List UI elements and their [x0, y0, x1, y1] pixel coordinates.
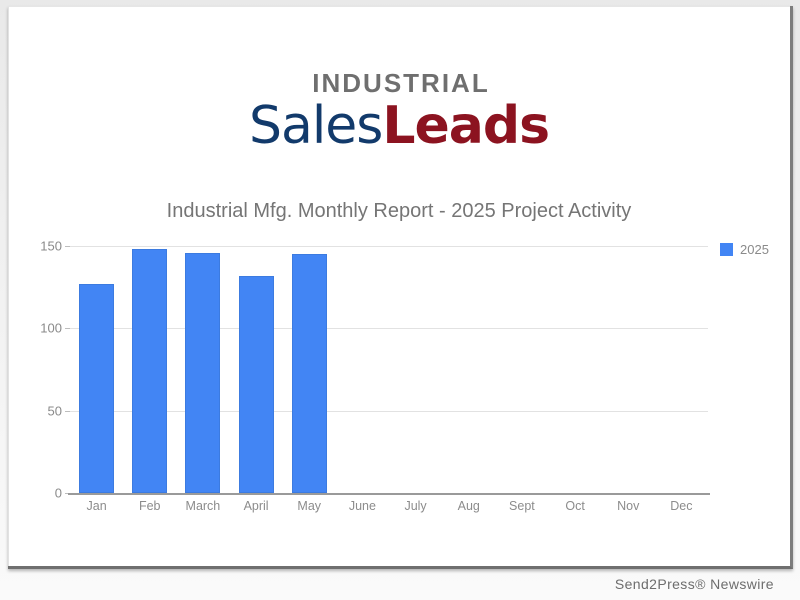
slide-card: INDUSTRIAL SalesLeads Industrial Mfg. Mo…	[8, 6, 793, 569]
x-axis-tick-label: Dec	[655, 499, 708, 513]
y-axis-tick-label: 100	[16, 321, 62, 336]
x-axis-tick-label: June	[336, 499, 389, 513]
axis-baseline	[68, 493, 710, 495]
bar-slot	[655, 246, 708, 493]
x-axis-tick-label: March	[176, 499, 229, 513]
x-axis-tick-label: Aug	[442, 499, 495, 513]
brand-logo-wordmark: SalesLeads	[8, 100, 790, 152]
bar-slot	[549, 246, 602, 493]
bar-jan[interactable]	[79, 284, 114, 493]
bar-slot	[123, 246, 176, 493]
bar-slot	[176, 246, 229, 493]
brand-logo: INDUSTRIAL SalesLeads	[8, 70, 790, 152]
bar-slot	[230, 246, 283, 493]
chart-title: Industrial Mfg. Monthly Report - 2025 Pr…	[8, 200, 790, 223]
y-axis-tick-label: 0	[16, 486, 62, 501]
bar-slot	[602, 246, 655, 493]
bar-may[interactable]	[292, 254, 327, 493]
brand-logo-leads-text: Leads	[382, 96, 549, 156]
bar-feb[interactable]	[132, 249, 167, 493]
bar-group	[70, 246, 708, 493]
bar-chart: 050100150 JanFebMarchAprilMayJuneJulyAug…	[16, 231, 782, 531]
x-axis-tick-label: July	[389, 499, 442, 513]
brand-logo-top-text: INDUSTRIAL	[12, 70, 790, 96]
x-axis-tick-label: April	[230, 499, 283, 513]
bar-slot	[283, 246, 336, 493]
x-axis-labels: JanFebMarchAprilMayJuneJulyAugSeptOctNov…	[70, 499, 708, 519]
y-axis-tick-label: 150	[16, 239, 62, 254]
bar-march[interactable]	[185, 253, 220, 493]
legend-swatch-icon	[720, 243, 733, 256]
bar-slot	[70, 246, 123, 493]
plot-area	[70, 246, 708, 493]
bar-slot	[389, 246, 442, 493]
bar-slot	[442, 246, 495, 493]
bar-slot	[495, 246, 548, 493]
y-axis-tick-label: 50	[16, 403, 62, 418]
x-axis-tick-label: Sept	[495, 499, 548, 513]
brand-logo-sales-text: Sales	[249, 96, 382, 156]
slide-background: INDUSTRIAL SalesLeads Industrial Mfg. Mo…	[0, 0, 800, 600]
legend-item-label: 2025	[740, 242, 769, 257]
y-axis-labels: 050100150	[16, 246, 62, 493]
x-axis-tick-label: Feb	[123, 499, 176, 513]
footer-attribution: Send2Press® Newswire	[615, 576, 774, 592]
x-axis-tick-label: May	[283, 499, 336, 513]
chart-legend: 2025	[720, 242, 769, 257]
x-axis-tick-label: Oct	[549, 499, 602, 513]
x-axis-tick-label: Nov	[602, 499, 655, 513]
bar-april[interactable]	[239, 276, 274, 493]
x-axis-tick-label: Jan	[70, 499, 123, 513]
bar-slot	[336, 246, 389, 493]
